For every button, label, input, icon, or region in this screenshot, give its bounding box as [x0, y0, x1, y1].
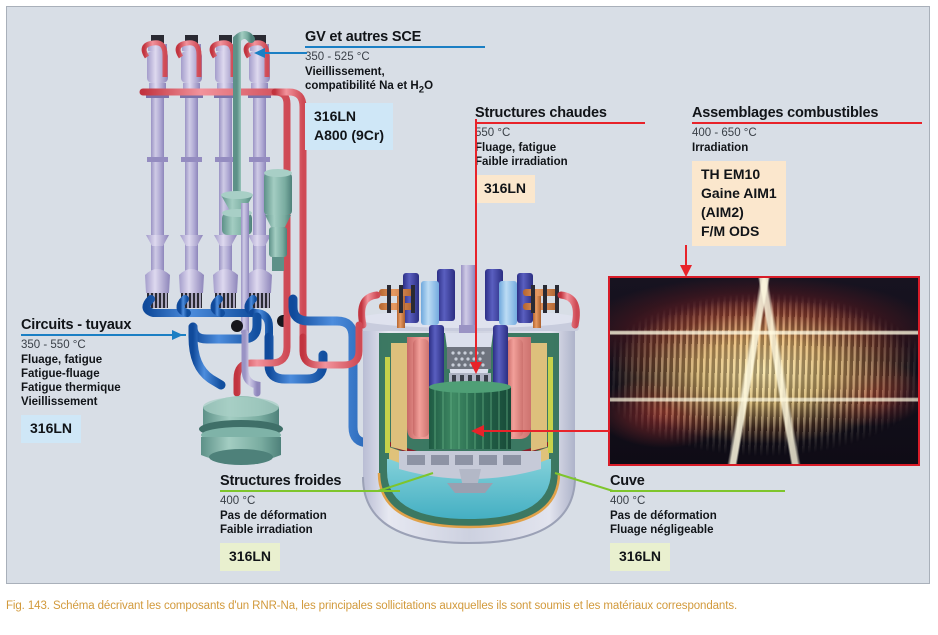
- leader-chaudes-vline: [475, 119, 477, 364]
- material-box: 316LN: [475, 175, 535, 203]
- material-box: TH EM10 Gaine AIM1 (AIM2) F/M ODS: [692, 161, 786, 246]
- label-solicitation: Vieillissement: [21, 395, 186, 409]
- label-rule: [692, 122, 922, 124]
- material-item: 316LN: [314, 107, 384, 126]
- material-item: Gaine AIM1: [701, 184, 777, 203]
- material-item: 316LN: [619, 547, 661, 566]
- label-rule: [475, 122, 645, 124]
- leader-circuits-arrowhead: [172, 330, 183, 340]
- label-temperature: 550 °C: [475, 127, 645, 139]
- label-solicitation: Fatigue-fluage: [21, 367, 186, 381]
- label-solicitation: Fluage, fatigue: [475, 141, 645, 155]
- label-temperature: 350 - 525 °C: [305, 51, 485, 63]
- label-title: Structures chaudes: [475, 105, 645, 121]
- label-solicitation: Faible irradiation: [220, 523, 400, 537]
- label-rule: [305, 46, 485, 48]
- material-box: 316LN: [610, 543, 670, 571]
- leader-gv-line: [265, 52, 307, 54]
- label-solicitation: Fluage, fatigue: [21, 353, 186, 367]
- material-box: 316LN: [220, 543, 280, 571]
- fuel-assemblies-photograph: [608, 276, 920, 466]
- reactor-core: [429, 381, 511, 449]
- material-item: 316LN: [484, 179, 526, 198]
- leader-froides-line: [220, 467, 435, 507]
- material-item: (AIM2): [701, 203, 777, 222]
- label-assemblages-combustibles: Assemblages combustibles 400 - 650 °C Ir…: [692, 105, 922, 246]
- leader-assemblages-arrowhead: [680, 265, 692, 277]
- label-solicitation: Fluage négligeable: [610, 523, 785, 537]
- material-box: 316LN: [21, 415, 81, 443]
- leader-assemblages-vline: [685, 245, 687, 267]
- leader-cuve-line: [553, 467, 753, 507]
- label-solicitation: compatibilité Na et H2O: [305, 79, 485, 97]
- leader-circuits-line: [21, 334, 173, 336]
- leader-photo-to-core-arrowhead: [471, 425, 484, 437]
- material-item: 316LN: [229, 547, 271, 566]
- leader-chaudes-arrowhead: [470, 362, 482, 374]
- photo-handling-frame: [610, 278, 918, 464]
- material-item: A800 (9Cr): [314, 126, 384, 145]
- material-box: 316LN A800 (9Cr): [305, 103, 393, 150]
- label-solicitation: Pas de déformation: [220, 509, 400, 523]
- label-solicitation: Irradiation: [692, 141, 922, 155]
- label-solicitation: Vieillissement,: [305, 65, 485, 79]
- leader-photo-to-core-line: [483, 430, 610, 432]
- label-structures-chaudes: Structures chaudes 550 °C Fluage, fatigu…: [475, 105, 645, 203]
- label-temperature: 400 - 650 °C: [692, 127, 922, 139]
- label-solicitation: Pas de déformation: [610, 509, 785, 523]
- label-title: GV et autres SCE: [305, 29, 485, 45]
- label-title: Circuits - tuyaux: [21, 317, 186, 333]
- label-temperature: 350 - 550 °C: [21, 339, 186, 351]
- material-item: F/M ODS: [701, 222, 777, 241]
- label-solicitation: Faible irradiation: [475, 155, 645, 169]
- figure-root: GV et autres SCE 350 - 525 °C Vieillisse…: [0, 0, 938, 635]
- leader-gv-arrowhead: [254, 48, 265, 58]
- figure-panel: GV et autres SCE 350 - 525 °C Vieillisse…: [6, 6, 930, 584]
- material-item: 316LN: [30, 419, 72, 438]
- figure-caption: Fig. 143. Schéma décrivant les composant…: [6, 600, 932, 612]
- label-gv-sce: GV et autres SCE 350 - 525 °C Vieillisse…: [305, 29, 485, 150]
- steam-water-piping: [237, 35, 251, 199]
- steam-generator-modules: [144, 35, 272, 308]
- material-item: TH EM10: [701, 165, 777, 184]
- label-title: Assemblages combustibles: [692, 105, 922, 121]
- label-solicitation: Fatigue thermique: [21, 381, 186, 395]
- expansion-tank: [199, 396, 283, 465]
